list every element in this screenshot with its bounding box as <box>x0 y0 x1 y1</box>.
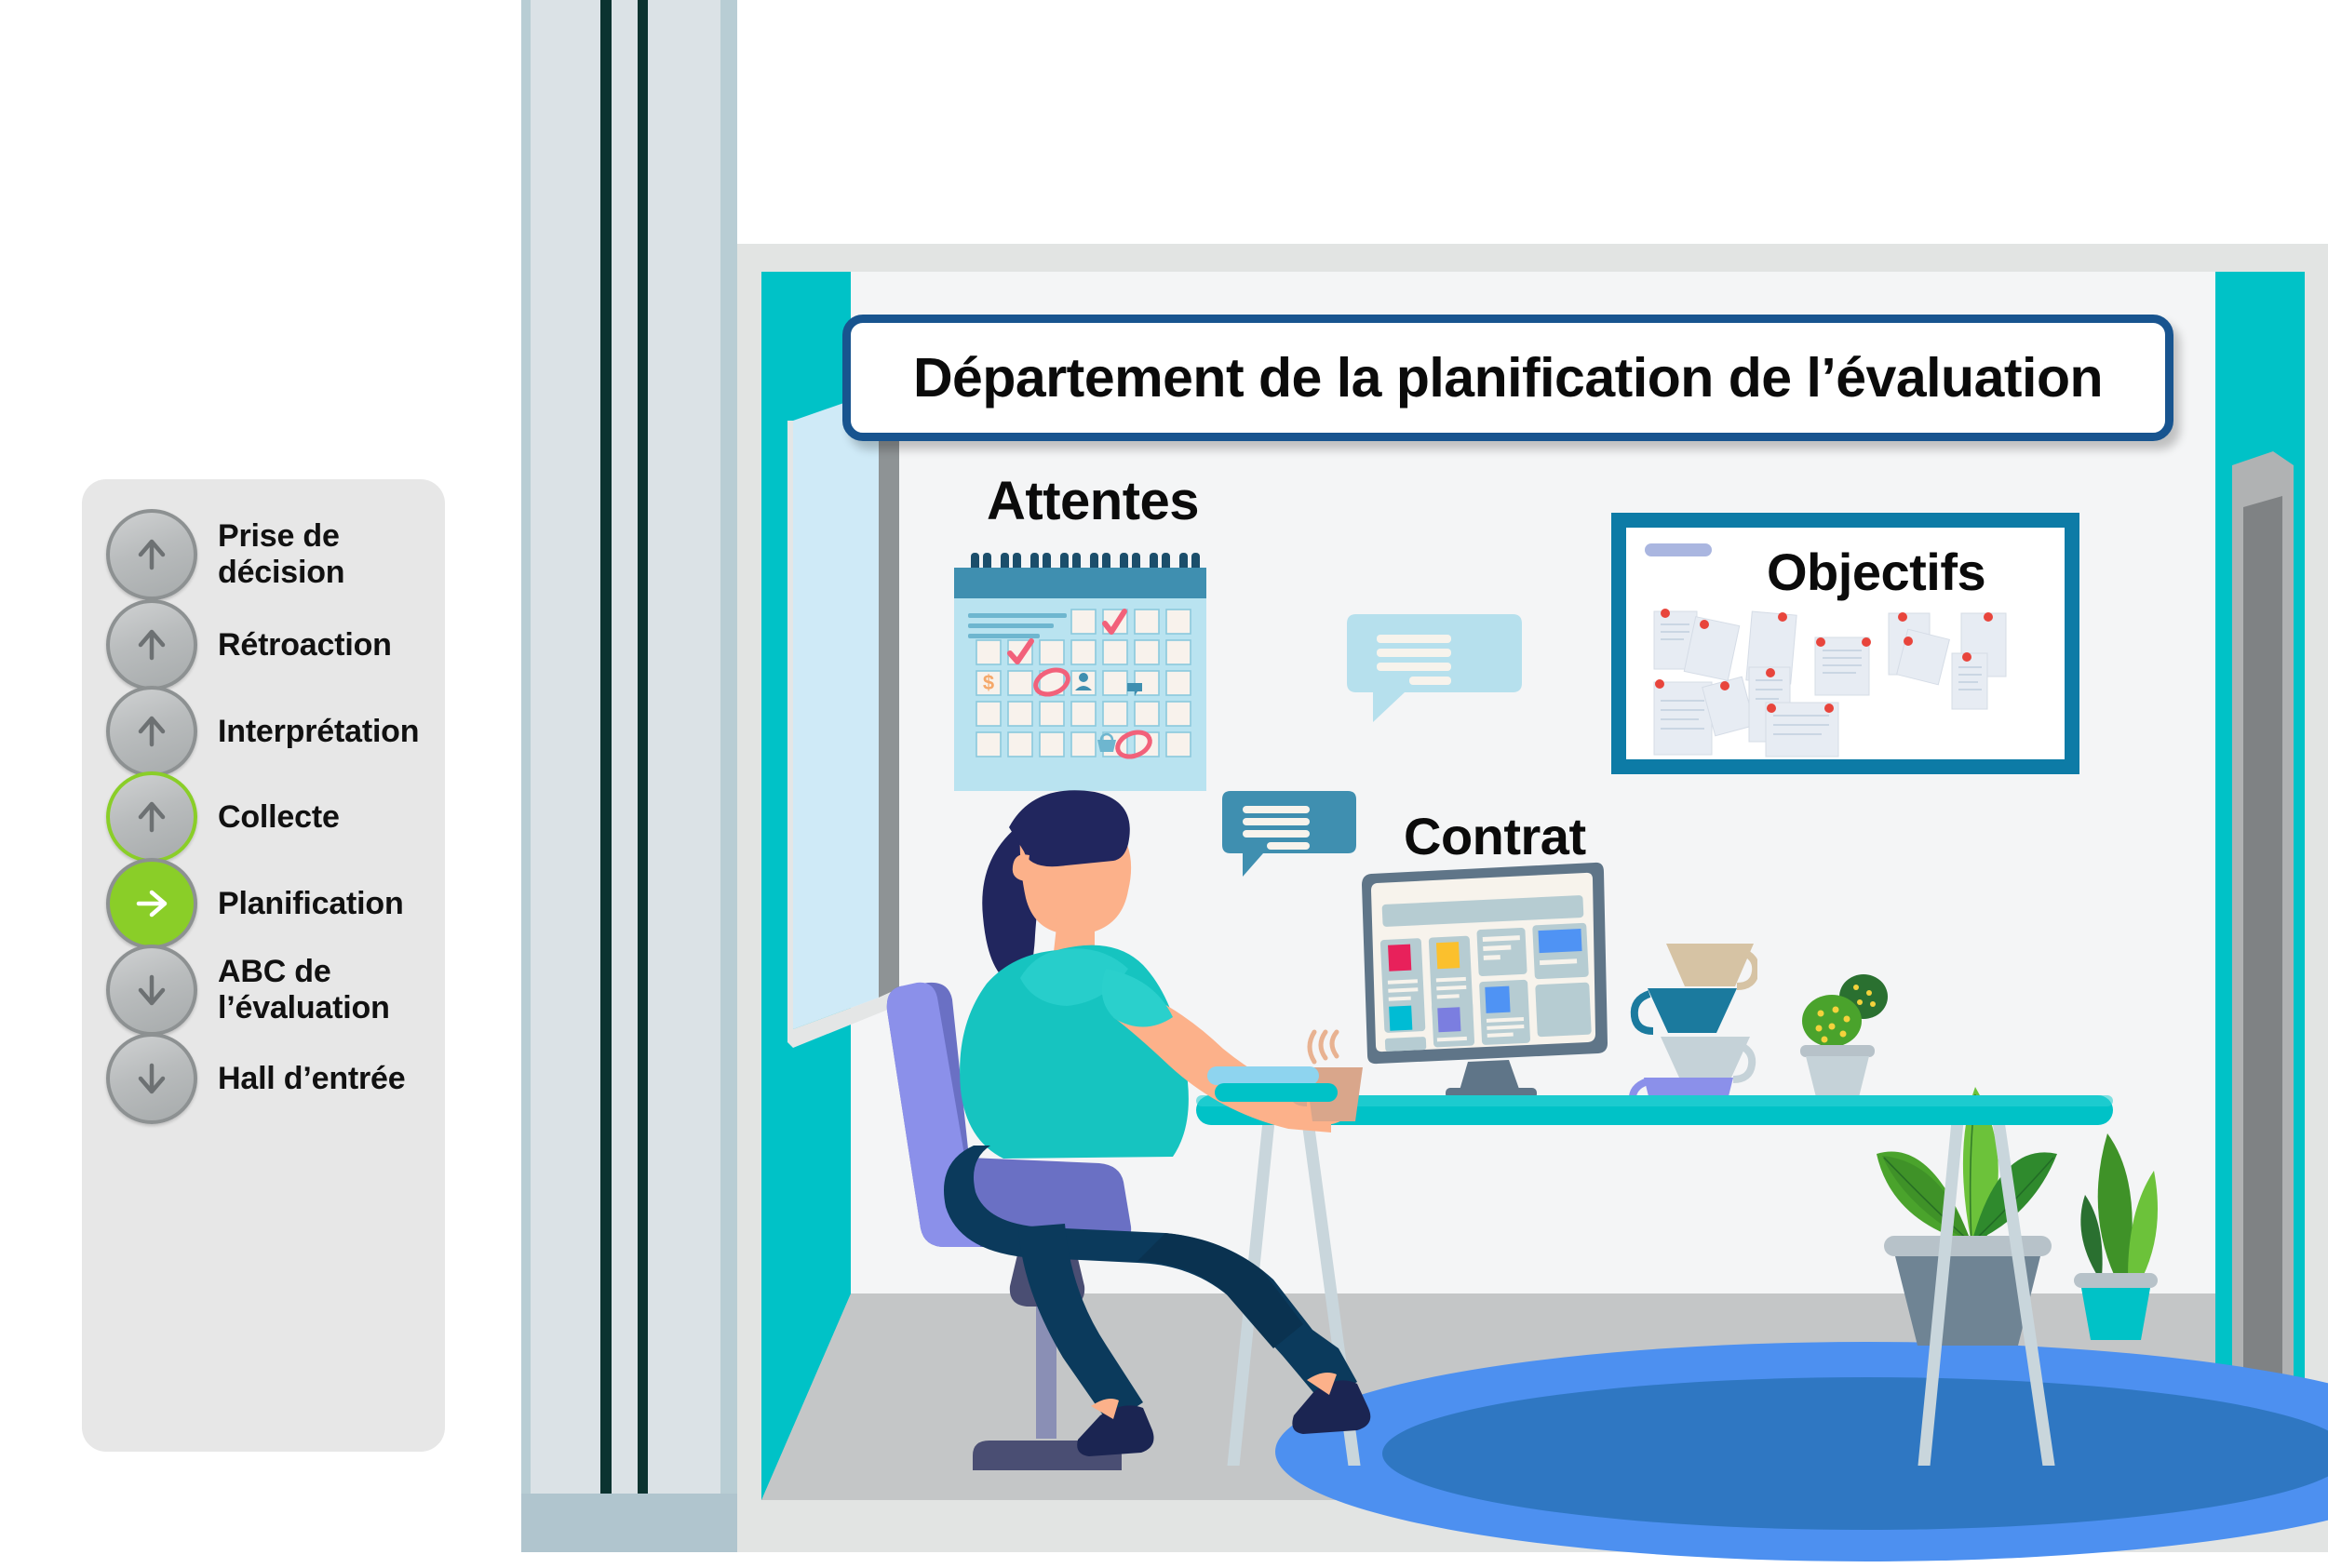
sidebar-item-1[interactable]: Rétroaction <box>106 599 432 690</box>
arrow-up-icon <box>129 795 174 839</box>
mouse-pad-icon <box>1207 1066 1338 1104</box>
glass-partition-icon <box>521 0 737 1552</box>
sidebar-item-label: Collecte <box>218 799 340 836</box>
nav-step-button[interactable] <box>106 686 197 777</box>
page-title: Département de la planification de l’éva… <box>913 346 2103 409</box>
nav-step-button[interactable] <box>106 945 197 1036</box>
sidebar-item-2[interactable]: Interprétation <box>106 686 432 777</box>
sidebar-item-label: Prise dedécision <box>218 518 344 591</box>
sidebar-item-label: Rétroaction <box>218 627 392 663</box>
sidebar-item-label: Interprétation <box>218 714 419 750</box>
label-contrat: Contrat <box>1404 806 1586 866</box>
wall-calendar-icon: $ <box>954 551 1247 795</box>
sidebar-item-5[interactable]: ABC del’évaluation <box>106 945 432 1036</box>
speech-bubble-icon <box>1222 791 1356 877</box>
navigation-panel: Prise dedécisionRétroactionInterprétatio… <box>82 479 445 1452</box>
arrow-up-icon <box>129 623 174 667</box>
page-title-banner: Département de la planification de l’éva… <box>842 315 2173 441</box>
arrow-up-icon <box>129 532 174 577</box>
nav-step-button[interactable] <box>106 858 197 949</box>
nav-step-button[interactable] <box>106 771 197 863</box>
sidebar-item-label: Hall d’entrée <box>218 1061 405 1097</box>
nav-step-button[interactable] <box>106 1033 197 1124</box>
sidebar-item-label: ABC del’évaluation <box>218 954 390 1026</box>
sidebar-item-6[interactable]: Hall d’entrée <box>106 1033 432 1124</box>
arrow-down-icon <box>129 1056 174 1101</box>
sidebar-item-3[interactable]: Collecte <box>106 771 432 863</box>
arrow-right-icon <box>129 881 174 926</box>
label-attentes: Attentes <box>987 470 1199 532</box>
arrow-down-icon <box>129 968 174 1012</box>
svg-text:$: $ <box>983 671 994 694</box>
nav-step-button[interactable] <box>106 509 197 600</box>
sidebar-item-0[interactable]: Prise dedécision <box>106 509 432 600</box>
cactus-plant-icon <box>1800 972 1903 1112</box>
speech-bubble-icon <box>1347 614 1529 722</box>
sidebar-item-4[interactable]: Planification <box>106 858 432 949</box>
nav-step-button[interactable] <box>106 599 197 690</box>
arrow-up-icon <box>129 709 174 754</box>
stacked-cups-icon <box>1627 940 1757 1107</box>
sidebar-item-label: Planification <box>218 886 404 922</box>
label-objectifs: Objectifs <box>1767 542 1985 602</box>
